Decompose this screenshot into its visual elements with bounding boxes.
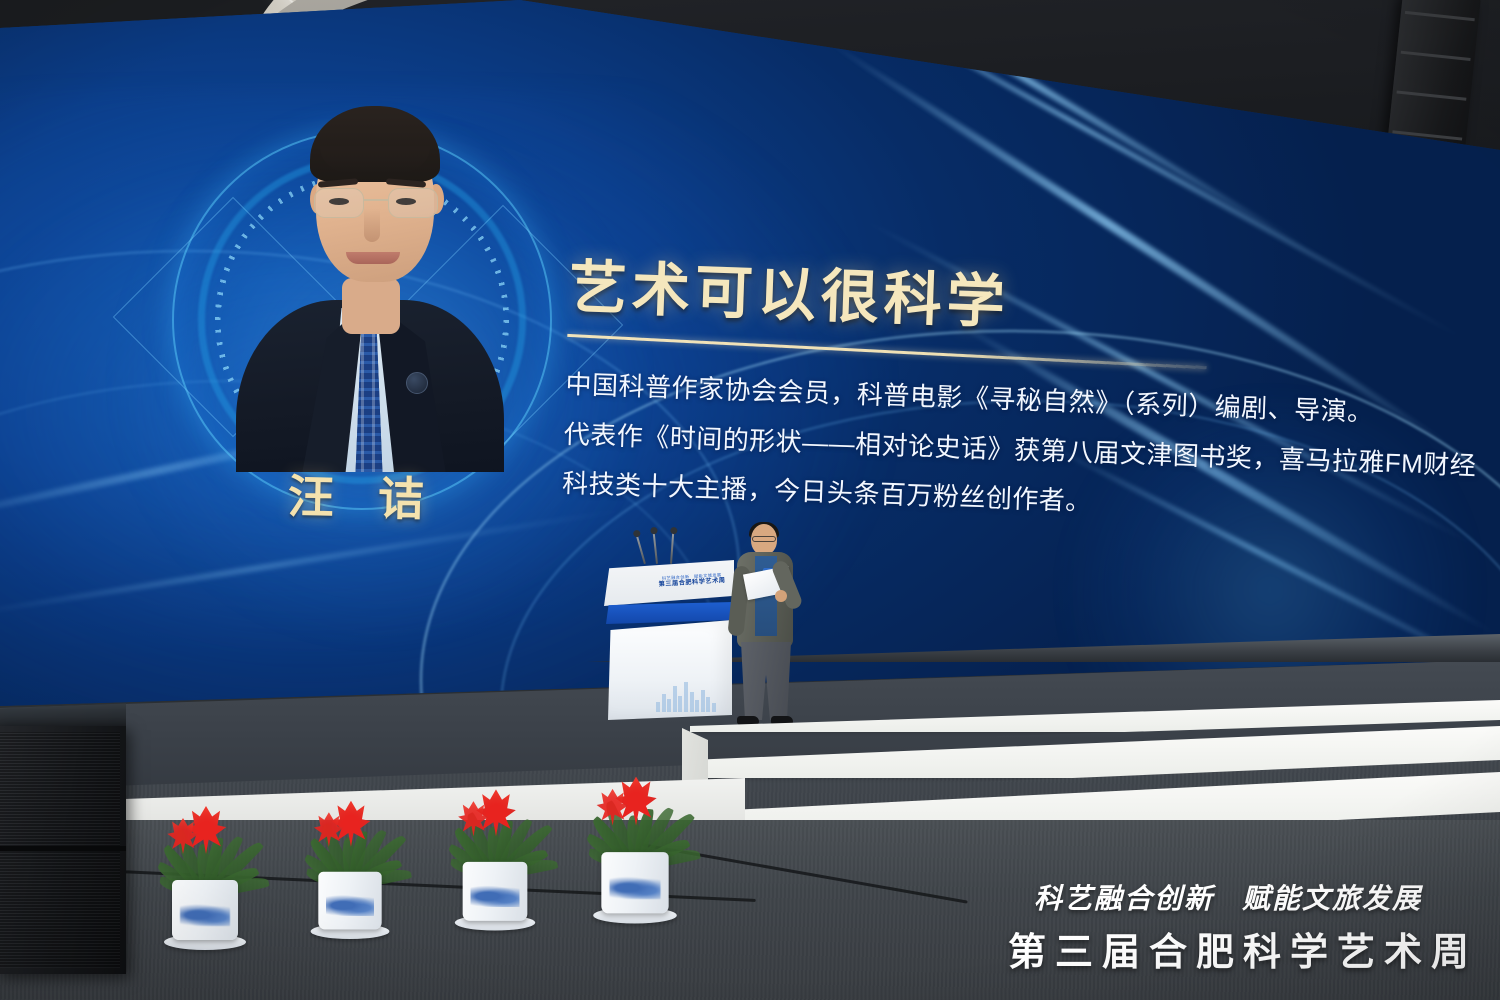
- stair-step: [690, 726, 1500, 778]
- speaker-bio: 中国科普作家协会会员，科普电影《寻秘自然》（系列）编剧、导演。 代表作《时间的形…: [562, 368, 1466, 533]
- watermark-tagline: 科艺融合创新赋能文旅发展: [1034, 877, 1478, 917]
- podium-accent-band: [606, 602, 734, 624]
- potted-plant: [579, 771, 691, 924]
- portrait-neck: [342, 278, 400, 334]
- watermark-event-name: 第三届合肥科学艺术周: [1008, 921, 1478, 976]
- potted-plant: [150, 800, 260, 950]
- title-divider: [567, 334, 1206, 369]
- presenter-glasses-icon: [752, 536, 776, 542]
- talk-title: 艺术可以很科学: [568, 258, 1470, 350]
- stair-step: [690, 700, 1500, 732]
- potted-plant: [441, 784, 549, 931]
- portrait-nose: [364, 208, 380, 242]
- screen-text-column: 艺术可以很科学 中国科普作家协会会员，科普电影《寻秘自然》（系列）编剧、导演。 …: [561, 258, 1470, 549]
- potted-plant: [297, 795, 403, 939]
- porcelain-pot: [463, 862, 528, 921]
- speaker-name: 汪 诘: [247, 460, 478, 531]
- skyline-building: [678, 696, 682, 712]
- stage-scene: 汪 诘 艺术可以很科学 中国科普作家协会会员，科普电影《寻秘自然》（系列）编剧、…: [0, 0, 1500, 1000]
- skyline-building: [667, 699, 671, 712]
- watermark-tagline-right: 赋能文旅发展: [1242, 882, 1422, 915]
- portrait-mouth: [346, 252, 400, 264]
- skyline-building: [673, 686, 677, 712]
- watermark: 科艺融合创新赋能文旅发展 第三届合肥科学艺术周: [1008, 877, 1478, 976]
- presenter-hand: [775, 590, 787, 602]
- skyline-building: [656, 702, 660, 712]
- porcelain-pot: [318, 872, 381, 930]
- portrait-photo: [230, 72, 510, 472]
- speaker-seam: [0, 846, 126, 851]
- portrait-lapel-pin-icon: [406, 372, 428, 394]
- watermark-tagline-left: 科艺融合创新: [1034, 882, 1214, 915]
- podium-branding: 科艺融合创新 赋能文旅发展 第三届合肥科学艺术周: [655, 568, 728, 594]
- porcelain-pot: [601, 852, 668, 913]
- subwoofer-speaker: [0, 726, 126, 974]
- porcelain-pot: [172, 880, 238, 940]
- portrait-hair: [310, 106, 440, 182]
- skyline-building: [662, 694, 666, 712]
- skyline-building: [684, 682, 688, 712]
